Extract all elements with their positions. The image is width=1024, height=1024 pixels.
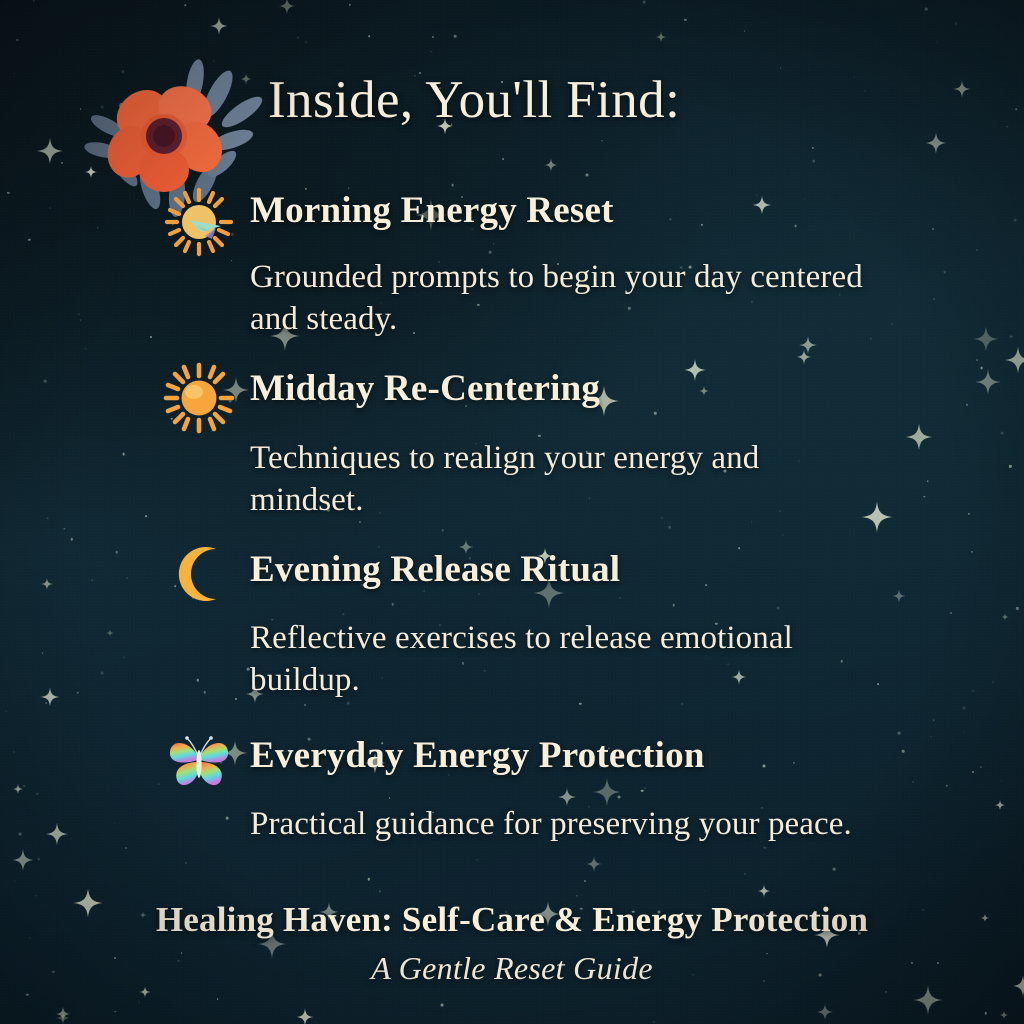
item-body: Grounded prompts to begin your day cente… xyxy=(250,256,870,340)
page-title: Inside, You'll Find: xyxy=(268,74,680,127)
crescent-moon-icon xyxy=(163,538,235,610)
item-body: Practical guidance for preserving your p… xyxy=(250,803,990,845)
footer-title: Healing Haven: Self-Care & Energy Protec… xyxy=(0,900,1024,940)
item-heading: Morning Energy Reset xyxy=(250,192,614,229)
footer-subtitle: A Gentle Reset Guide xyxy=(0,950,1024,987)
butterfly-icon xyxy=(163,726,235,798)
sun-icon xyxy=(163,362,235,434)
item-heading: Evening Release Ritual xyxy=(250,551,620,588)
item-heading: Everyday Energy Protection xyxy=(250,737,705,774)
item-heading: Midday Re-Centering xyxy=(250,370,600,407)
sunrise-icon xyxy=(163,186,235,258)
item-body: Reflective exercises to release emotiona… xyxy=(250,617,910,701)
item-body: Techniques to realign your energy and mi… xyxy=(250,437,820,521)
poster-content: Inside, You'll Find: xyxy=(0,0,1024,1024)
poster-canvas: Inside, You'll Find: xyxy=(0,0,1024,1024)
